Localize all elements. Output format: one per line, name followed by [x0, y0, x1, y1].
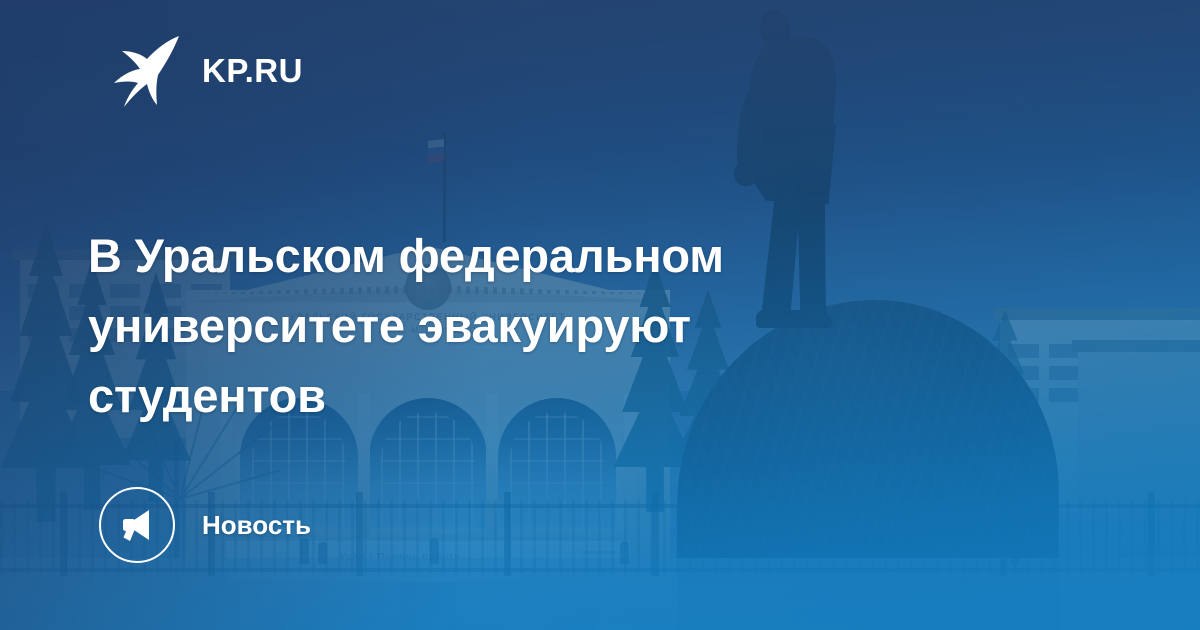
megaphone-icon — [116, 504, 158, 546]
badge-label: Новость — [202, 512, 311, 538]
badge-circle — [99, 487, 175, 563]
category-badge[interactable]: Новость — [99, 487, 311, 563]
swallow-bird-icon — [108, 32, 180, 108]
headline: В Уральском федеральном университете эва… — [88, 221, 898, 431]
brand-lockup[interactable]: KP.RU — [108, 32, 303, 108]
news-share-card: Урал / Помочь работу Конкурс «Моя специа… — [0, 0, 1200, 630]
brand-wordmark: KP.RU — [202, 54, 303, 87]
card-content: KP.RU В Уральском федеральном университе… — [0, 0, 1200, 630]
